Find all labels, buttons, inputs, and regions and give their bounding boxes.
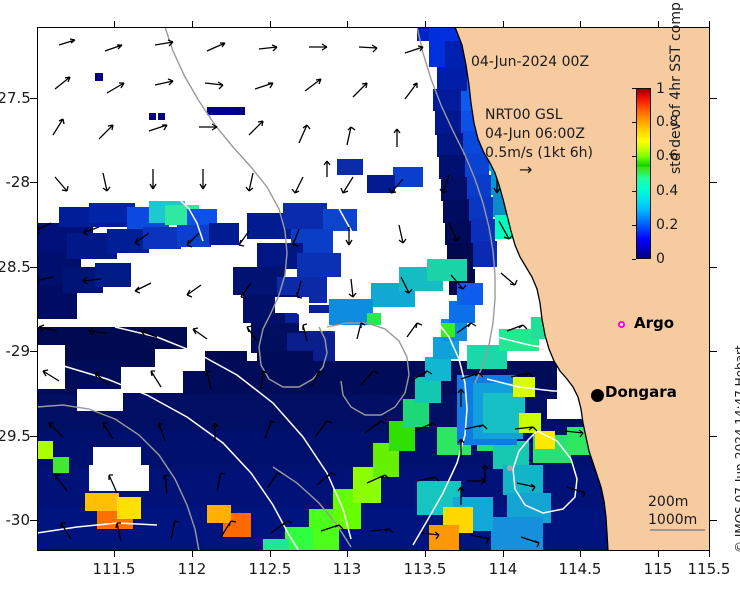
x-tick-label: 112.5 — [249, 560, 292, 578]
y-tick-label: -27.5 — [0, 89, 30, 107]
y-tick-label: -30 — [0, 511, 30, 529]
argo-float-marker[interactable] — [618, 321, 625, 328]
x-tick-label: 115.5 — [688, 560, 731, 578]
axes-ticks — [37, 27, 710, 551]
depth-shallow-label: 200m — [648, 493, 697, 511]
x-tick-label: 114.5 — [559, 560, 602, 578]
copyright-notice: © IMOS 07-Jun-2024 14:47 Hobart — [733, 345, 740, 553]
x-tick-label: 114 — [489, 560, 518, 578]
x-tick-label: 113 — [333, 560, 362, 578]
y-tick-label: -28.5 — [0, 258, 30, 276]
colorbar-tick-label: 1 — [656, 81, 665, 97]
x-tick-label: 111.5 — [93, 560, 136, 578]
figure-canvas: 04-Jun-2024 00Z NRT00 GSL 04-Jun 06:00Z … — [0, 0, 740, 592]
colorbar-gradient — [636, 88, 651, 259]
x-tick-label: 112 — [178, 560, 207, 578]
y-tick-label: -29 — [0, 342, 30, 360]
colorbar-tick-label: 0.4 — [656, 183, 678, 199]
depth-contour-legend: 200m 1000m — [648, 493, 697, 529]
colorbar-title: std dev of 4hr SST comp — [668, 2, 684, 174]
depth-deep-label: 1000m — [648, 511, 697, 529]
colorbar-tick-label: 0 — [656, 251, 665, 267]
argo-legend-label: Argo — [634, 314, 674, 332]
depth-legend-rule — [650, 529, 705, 531]
colorbar-tick-label: 0.2 — [656, 217, 678, 233]
dongara-town-marker[interactable] — [591, 389, 604, 402]
y-tick-label: -28 — [0, 173, 30, 191]
x-tick-label: 115 — [644, 560, 673, 578]
x-tick-label: 113.5 — [404, 560, 447, 578]
dongara-town-label: Dongara — [605, 383, 677, 401]
colorbar[interactable]: 0 0.2 0.4 0.6 0.8 1 — [636, 88, 651, 259]
y-tick-label: -29.5 — [0, 427, 30, 445]
